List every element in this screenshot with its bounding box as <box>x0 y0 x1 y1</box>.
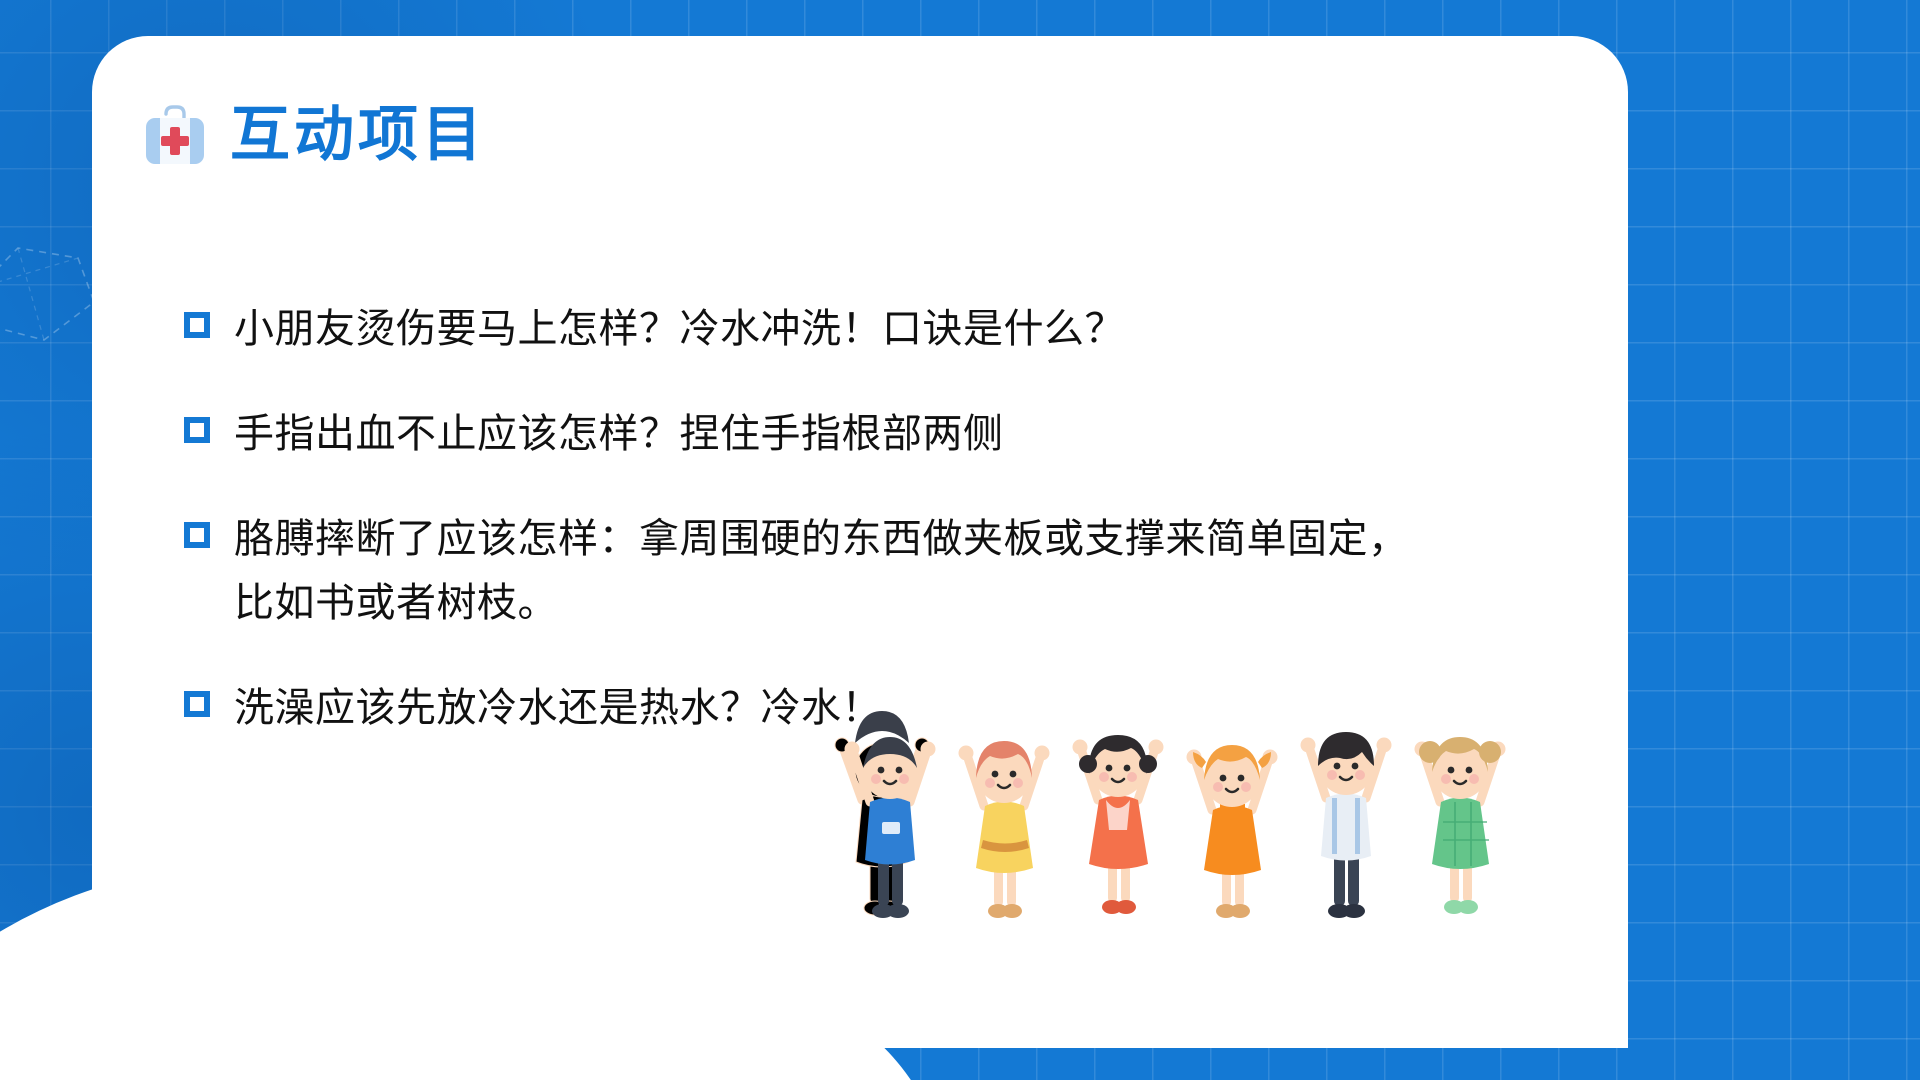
list-item-label: 洗澡应该先放冷水还是热水？冷水！ <box>234 677 882 740</box>
list-item-label: 手指出血不止应该怎样？捏住手指根部两侧 <box>234 403 1004 466</box>
square-bullet-icon <box>184 312 210 338</box>
list-item[interactable]: 小朋友烫伤要马上怎样？冷水冲洗！口诀是什么？ <box>184 298 1514 361</box>
list-item-label: 胳膊摔断了应该怎样：拿周围硬的东西做夹板或支撑来简单固定，比如书或者树枝。 <box>234 508 1414 634</box>
square-bullet-icon <box>184 522 210 548</box>
list-item[interactable]: 胳膊摔断了应该怎样：拿周围硬的东西做夹板或支撑来简单固定，比如书或者树枝。 <box>184 508 1514 634</box>
page-title-row: 互动项目 <box>138 98 486 172</box>
slide-root: 互动项目 小朋友烫伤要马上怎样？冷水冲洗！口诀是什么？ 手指出血不止应该怎样？捏… <box>0 0 1920 1080</box>
content-card: 互动项目 小朋友烫伤要马上怎样？冷水冲洗！口诀是什么？ 手指出血不止应该怎样？捏… <box>92 36 1628 1048</box>
medical-kit-icon <box>138 98 212 172</box>
square-bullet-icon <box>184 691 210 717</box>
six-children-cheering-illustration: use.k .arm-l, use.k .arm-r { stroke: #fb… <box>832 688 1532 938</box>
kid-group <box>845 732 1506 918</box>
list-item-label: 小朋友烫伤要马上怎样？冷水冲洗！口诀是什么？ <box>234 298 1125 361</box>
decorative-polygon-icon <box>0 228 104 348</box>
page-title: 互动项目 <box>230 105 486 165</box>
list-item[interactable]: 手指出血不止应该怎样？捏住手指根部两侧 <box>184 403 1514 466</box>
square-bullet-icon <box>184 417 210 443</box>
